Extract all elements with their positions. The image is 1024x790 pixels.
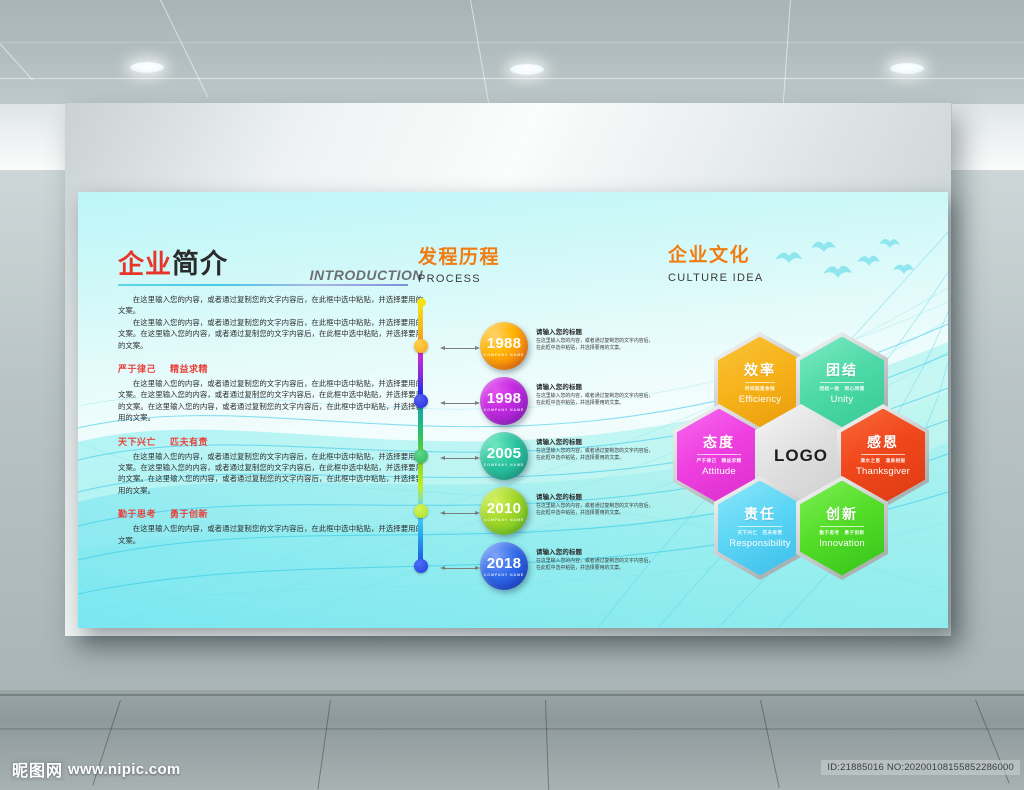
hexagon-title-cn: 团结 — [826, 363, 858, 379]
hexagon-title-cn: 感恩 — [867, 435, 899, 451]
intro-section-heading-b: 精益求精 — [170, 365, 208, 375]
timeline-year-badge[interactable]: 2010 COMPANY NAME — [480, 487, 528, 535]
timeline-item-body: 在这里输入您的内容，或者通过复制您的文字内容后，在此框中选中粘贴，并选择要用的文… — [536, 338, 654, 353]
ceiling — [0, 0, 1024, 108]
timeline-company: COMPANY NAME — [484, 463, 524, 467]
hexagon-title-en: Innovation — [819, 538, 865, 549]
timeline-text: 请输入您的标题 在这里输入您的内容，或者通过复制您的文字内容后，在此框中选中粘贴… — [536, 437, 654, 463]
hexagon-title-cn: 责任 — [744, 507, 776, 523]
timeline-item-body: 在这里输入您的内容，或者通过复制您的文字内容后，在此框中选中粘贴，并选择要用的文… — [536, 558, 654, 573]
timeline-text: 请输入您的标题 在这里输入您的内容，或者通过复制您的文字内容后，在此框中选中粘贴… — [536, 327, 654, 353]
timeline-dot — [414, 394, 428, 408]
timeline-item-body: 在这里输入您的内容，或者通过复制您的文字内容后，在此框中选中粘贴，并选择要用的文… — [536, 503, 654, 518]
timeline-connector — [440, 346, 480, 351]
hexagon-title-cn: 效率 — [744, 363, 776, 379]
timeline-row: 2018 COMPANY NAME 请输入您的标题 在这里输入您的内容，或者通过… — [418, 542, 653, 596]
intro-section-heading-b: 勇于创新 — [170, 510, 208, 520]
timeline-row: 1988 COMPANY NAME 请输入您的标题 在这里输入您的内容，或者通过… — [418, 322, 653, 376]
timeline-item-body: 在这里输入您的内容，或者通过复制您的文字内容后，在此框中选中粘贴，并选择要用的文… — [536, 393, 654, 408]
intro-section-heading: 严于律己精益求精 — [118, 362, 423, 375]
intro-column: 企业简介 INTRODUCTION 在这里输入您的内容，或者通过复制您的文字内容… — [118, 242, 423, 546]
hexagon-subtitle: 严于律己精益求精 — [697, 454, 742, 464]
culture-hexagon-cluster: 效率 时间就是金钱 Efficiency 团结 团结一致同心同德 Unity 态… — [666, 332, 896, 562]
timeline-item-title: 请输入您的标题 — [536, 327, 654, 336]
hexagon-title-en: Unity — [831, 394, 854, 405]
timeline-text: 请输入您的标题 在这里输入您的内容，或者通过复制您的文字内容后，在此框中选中粘贴… — [536, 492, 654, 518]
timeline-company: COMPANY NAME — [484, 573, 524, 577]
intro-paragraph: 在这里输入您的内容，或者通过复制您的文字内容后，在此框中选中粘贴，并选择要用的文… — [118, 294, 423, 317]
ceiling-light — [130, 62, 164, 73]
birds-icon — [753, 234, 933, 296]
timeline-item-title: 请输入您的标题 — [536, 437, 654, 446]
hexagon-title-cn: 态度 — [703, 435, 735, 451]
watermark-logo-text: 昵图网 — [10, 757, 65, 781]
image-id-badge: ID:21885016 NO:20200108155852286000 — [821, 760, 1020, 775]
timeline-item-title: 请输入您的标题 — [536, 492, 654, 501]
watermark-url: www.nipic.com — [68, 761, 181, 778]
hexagon-title-en: Efficiency — [739, 394, 781, 405]
intro-paragraph: 在这里输入您的内容，或者通过复制您的文字内容后，在此框中选中粘贴，并选择要用的文… — [118, 317, 423, 351]
timeline-row: 1998 COMPANY NAME 请输入您的标题 在这里输入您的内容，或者通过… — [418, 377, 653, 431]
timeline-item-title: 请输入您的标题 — [536, 547, 654, 556]
hexagon-title-en: Responsibility — [729, 538, 790, 549]
hexagon-subtitle: 勤于思考勇于创新 — [820, 526, 865, 536]
timeline-company: COMPANY NAME — [484, 353, 524, 357]
intro-section-body: 在这里输入您的内容，或者通过复制您的文字内容后，在此框中选中粘贴，并选择要用的文… — [118, 378, 423, 424]
timeline-text: 请输入您的标题 在这里输入您的内容，或者通过复制您的文字内容后，在此框中选中粘贴… — [536, 547, 654, 573]
timeline-dot — [414, 449, 428, 463]
intro-section-heading-b: 匹夫有责 — [170, 438, 208, 448]
timeline-top-cap — [417, 298, 426, 307]
timeline-year: 2010 — [487, 501, 522, 516]
intro-section-heading-a: 严于律己 — [118, 365, 156, 375]
intro-section-heading-a: 天下兴亡 — [118, 438, 156, 448]
intro-section-heading-a: 勤于思考 — [118, 510, 156, 520]
hexagon-subtitle: 滴水之恩涌泉相报 — [861, 454, 906, 464]
timeline-year-badge[interactable]: 1988 COMPANY NAME — [480, 322, 528, 370]
intro-title-dark: 简介 — [172, 249, 228, 280]
poster: 企业简介 INTRODUCTION 在这里输入您的内容，或者通过复制您的文字内容… — [78, 192, 948, 628]
timeline-year-badge[interactable]: 1998 COMPANY NAME — [480, 377, 528, 425]
intro-underline — [118, 284, 408, 286]
timeline-row: 2005 COMPANY NAME 请输入您的标题 在这里输入您的内容，或者通过… — [418, 432, 653, 486]
timeline-dot — [414, 559, 428, 573]
timeline-dot — [414, 504, 428, 518]
process-title-cn: 发程历程 — [418, 242, 648, 269]
timeline-company: COMPANY NAME — [484, 518, 524, 522]
hexagon-title-en: Thanksgiver — [856, 466, 910, 477]
site-watermark: 昵图网 www.nipic.com — [10, 757, 181, 781]
timeline-year: 2018 — [487, 556, 522, 571]
timeline-item-title: 请输入您的标题 — [536, 382, 654, 391]
hexagon-subtitle: 团结一致同心同德 — [820, 382, 865, 392]
culture-column: 企业文化 CULTURE IDEA — [668, 240, 928, 284]
timeline-year: 2005 — [487, 446, 522, 461]
timeline-year: 1998 — [487, 391, 522, 406]
intro-heading: 企业简介 INTRODUCTION — [118, 242, 423, 286]
hexagon-subtitle: 时间就是金钱 — [745, 382, 775, 392]
intro-section-body: 在这里输入您的内容，或者通过复制您的文字内容后，在此框中选中粘贴，并选择要用的文… — [118, 523, 423, 546]
timeline-connector — [440, 511, 480, 516]
process-timeline: 1988 COMPANY NAME 请输入您的标题 在这里输入您的内容，或者通过… — [418, 302, 653, 592]
ceiling-light — [890, 63, 924, 74]
room-scene: 企业简介 INTRODUCTION 在这里输入您的内容，或者通过复制您的文字内容… — [0, 0, 1024, 790]
process-title-en: PROCESS — [418, 273, 648, 285]
logo-text: LOGO — [774, 446, 828, 466]
ceiling-light — [510, 64, 544, 75]
intro-section-heading: 勤于思考勇于创新 — [118, 507, 423, 520]
hexagon-title-en: Attitude — [702, 466, 736, 477]
intro-section-heading: 天下兴亡匹夫有责 — [118, 435, 423, 448]
process-column: 发程历程 PROCESS — [418, 242, 648, 285]
timeline-connector — [440, 456, 480, 461]
hexagon-title-cn: 创新 — [826, 507, 858, 523]
timeline-dot — [414, 339, 428, 353]
timeline-year-badge[interactable]: 2005 COMPANY NAME — [480, 432, 528, 480]
intro-section-body: 在这里输入您的内容，或者通过复制您的文字内容后，在此框中选中粘贴，并选择要用的文… — [118, 451, 423, 497]
hexagon-subtitle: 天下兴亡匹夫有责 — [738, 526, 783, 536]
intro-title-red: 企业 — [118, 250, 172, 280]
timeline-connector — [440, 566, 480, 571]
timeline-company: COMPANY NAME — [484, 408, 524, 412]
timeline-row: 2010 COMPANY NAME 请输入您的标题 在这里输入您的内容，或者通过… — [418, 487, 653, 541]
intro-title-en: INTRODUCTION — [310, 267, 423, 283]
timeline-item-body: 在这里输入您的内容，或者通过复制您的文字内容后，在此框中选中粘贴，并选择要用的文… — [536, 448, 654, 463]
timeline-text: 请输入您的标题 在这里输入您的内容，或者通过复制您的文字内容后，在此框中选中粘贴… — [536, 382, 654, 408]
timeline-connector — [440, 401, 480, 406]
timeline-year-badge[interactable]: 2018 COMPANY NAME — [480, 542, 528, 590]
timeline-year: 1988 — [487, 336, 522, 351]
